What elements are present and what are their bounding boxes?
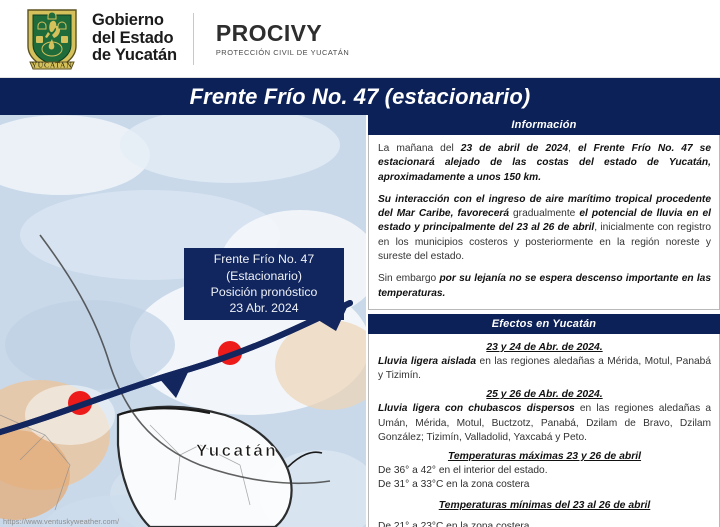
peninsula-label: Yucatán [196, 441, 278, 461]
advisory-infographic: YUCATAN Gobierno del Estado de Yucatán P… [0, 0, 720, 527]
gov-line-1: Gobierno [92, 12, 177, 30]
temp-max-line: De 31° a 33°C en la zona costera [378, 478, 711, 492]
header-divider [193, 13, 194, 65]
temp-min-heading: Temperaturas mínimas del 23 al 26 de abr… [378, 500, 711, 511]
gov-line-3: de Yucatán [92, 47, 177, 65]
info-section-body: La mañana del 23 de abril de 2024, el Fr… [368, 135, 720, 310]
procivy-logo: PROCIVY PROTECCIÓN CIVIL DE YUCATÁN [216, 21, 349, 57]
effects-text: Lluvia ligera aislada en las regiones al… [378, 355, 711, 383]
page-header: YUCATAN Gobierno del Estado de Yucatán P… [0, 0, 720, 78]
procivy-subtitle: PROTECCIÓN CIVIL DE YUCATÁN [216, 48, 349, 57]
temp-max-heading: Temperaturas máximas 23 y 26 de abril [378, 451, 711, 462]
weather-map: Frente Frío No. 47 (Estacionario) Posici… [0, 115, 366, 527]
procivy-name: PROCIVY [216, 21, 349, 45]
crest-banner-text: YUCATAN [32, 60, 73, 69]
yucatan-coat-of-arms-icon: YUCATAN [24, 6, 80, 72]
effects-date: 23 y 24 de Abr. de 2024. [378, 342, 711, 353]
advisory-panel: Información La mañana del 23 de abril de… [368, 115, 720, 527]
callout-line-3: Posición pronóstico [211, 284, 318, 300]
callout-line-1: Frente Frío No. 47 [214, 251, 314, 267]
effects-section-header: Efectos en Yucatán [368, 314, 720, 334]
info-section-header: Información [368, 115, 720, 135]
page-title-bar: Frente Frío No. 47 (estacionario) [0, 78, 720, 115]
callout-line-2: (Estacionario) [226, 268, 302, 284]
effects-section-body: 23 y 24 de Abr. de 2024. Lluvia ligera a… [368, 334, 720, 527]
temp-min-line: De 21° a 23°C en la zona costera. [378, 520, 711, 527]
page-title: Frente Frío No. 47 (estacionario) [190, 84, 531, 110]
gov-line-2: del Estado [92, 30, 177, 48]
map-source-watermark: https://www.ventuskyweather.com/ [3, 517, 119, 526]
temp-max-line: De 36° a 42° en el interior del estado. [378, 464, 711, 478]
info-paragraph: La mañana del 23 de abril de 2024, el Fr… [378, 142, 711, 185]
callout-line-4: 23 Abr. 2024 [229, 300, 298, 316]
map-graphic [0, 115, 366, 527]
info-paragraph: Su interacción con el ingreso de aire ma… [378, 193, 711, 264]
front-callout-box: Frente Frío No. 47 (Estacionario) Posici… [184, 248, 344, 320]
government-wordmark: Gobierno del Estado de Yucatán [92, 12, 177, 65]
info-paragraph: Sin embargo por su lejanía no se espera … [378, 272, 711, 301]
effects-text: Lluvia ligera con chubascos dispersos en… [378, 402, 711, 445]
effects-date: 25 y 26 de Abr. de 2024. [378, 389, 711, 400]
